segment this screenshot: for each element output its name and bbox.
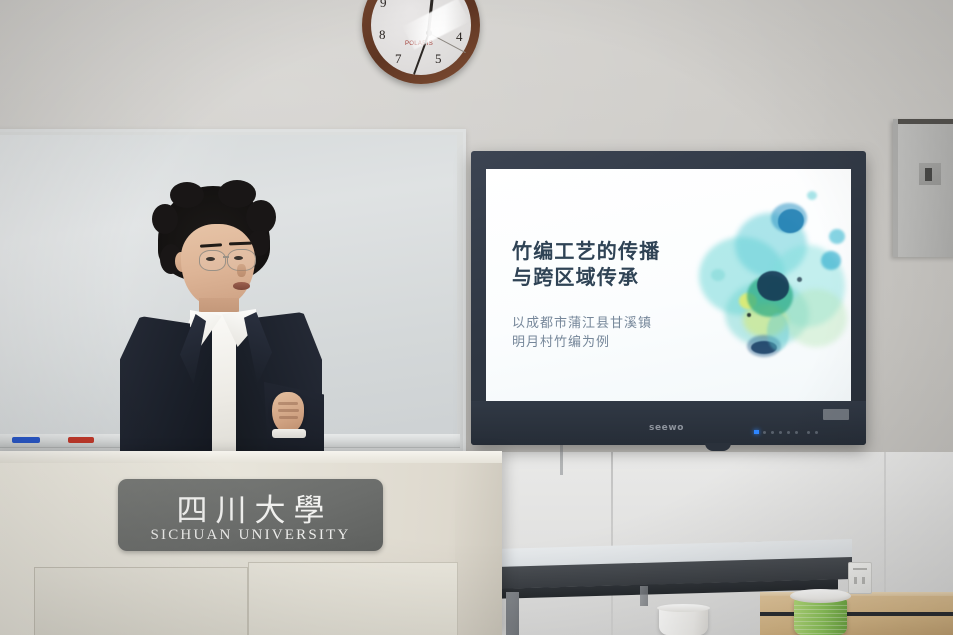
display-control-buttons[interactable]	[763, 431, 823, 434]
classroom-scene: 2 4 5 7 8 9 POLARIS	[0, 0, 953, 635]
presenter	[96, 186, 361, 471]
table-leg-center	[640, 586, 648, 606]
table-leg-left	[506, 592, 519, 635]
power-led-indicator	[754, 430, 759, 434]
white-cup-rim	[657, 604, 710, 612]
plaque-english-text: SICHUAN UNIVERSITY	[118, 527, 383, 544]
lectern-side-panel	[455, 457, 502, 635]
interactive-flat-panel[interactable]: 竹编工艺的传播 与跨区域传承 以成都市蒲江县甘溪镇 明月村竹编为例 seewo	[471, 151, 866, 445]
slide-subtitle: 以成都市蒲江县甘溪镇 明月村竹编为例	[512, 315, 722, 353]
clock-numeral-8: 8	[379, 27, 386, 43]
plaque-chinese-text: 四川大學	[118, 485, 383, 530]
slide-title: 竹编工艺的传播 与跨区域传承	[512, 239, 712, 290]
display-side-badge	[823, 409, 849, 420]
display-brand-logo: seewo	[649, 423, 684, 433]
slide-title-line-2: 与跨区域传承	[512, 265, 712, 291]
presenter-mouth	[233, 282, 250, 290]
desk-rail	[760, 612, 953, 616]
clock-numeral-4: 4	[456, 29, 463, 45]
wall-power-socket[interactable]	[848, 562, 872, 594]
presenter-hand	[272, 392, 304, 432]
glasses-lens-left	[199, 250, 226, 271]
clock-face: 2 4 5 7 8 9 POLARIS	[371, 0, 471, 75]
wall-seam	[611, 452, 613, 635]
clock-numeral-9: 9	[380, 0, 387, 11]
shirt-cuff	[272, 429, 306, 438]
red-marker[interactable]	[68, 437, 94, 443]
panel-keyhole-icon	[925, 168, 932, 181]
lectern-door-right[interactable]	[248, 562, 458, 635]
display-screen[interactable]: 竹编工艺的传播 与跨区域传承 以成都市蒲江县甘溪镇 明月村竹编为例	[486, 169, 851, 401]
green-cup-rim	[790, 589, 851, 603]
blue-marker[interactable]	[12, 437, 40, 443]
glasses-bridge	[223, 256, 229, 258]
lectern-top	[0, 451, 502, 463]
clock-numeral-7: 7	[395, 51, 402, 67]
clock-numeral-5: 5	[435, 51, 442, 67]
presentation-slide: 竹编工艺的传播 与跨区域传承 以成都市蒲江县甘溪镇 明月村竹编为例	[486, 169, 851, 401]
green-cup-texture	[794, 605, 847, 635]
panel-top-strip	[898, 119, 953, 124]
slide-subtitle-line-2: 明月村竹编为例	[512, 334, 722, 353]
slide-title-line-1: 竹编工艺的传播	[512, 239, 712, 265]
display-stand	[560, 445, 563, 475]
ir-sensor-icon	[705, 443, 731, 451]
university-plaque: 四川大學 SICHUAN UNIVERSITY	[118, 479, 383, 551]
lectern-door-left[interactable]	[34, 567, 248, 635]
electrical-panel-cabinet[interactable]	[893, 119, 953, 257]
slide-subtitle-line-1: 以成都市蒲江县甘溪镇	[512, 315, 722, 334]
presenter-nose	[237, 264, 246, 277]
